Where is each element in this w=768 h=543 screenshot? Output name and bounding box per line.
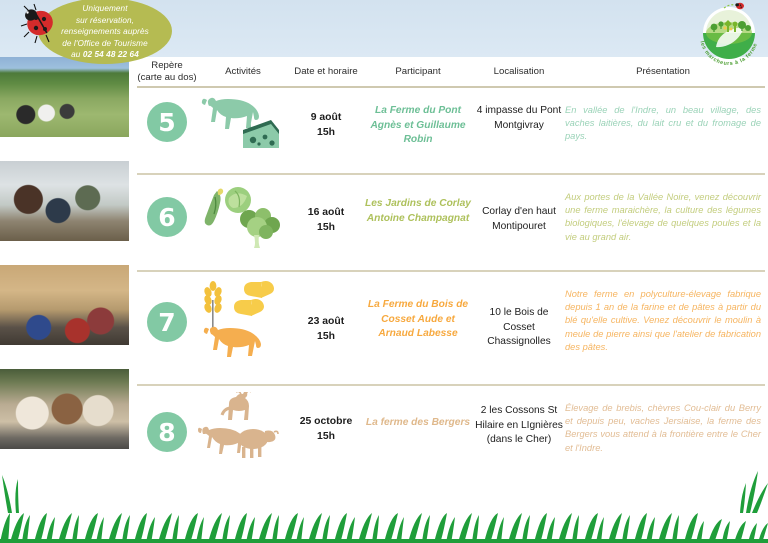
activites-cell: [197, 175, 289, 270]
date-cell: 9 août 15h: [289, 88, 363, 140]
wheat-icon: [201, 280, 225, 330]
cow-icon: [203, 324, 265, 364]
presentation-cell: Notre ferme en polyculture-élevage fabri…: [565, 272, 765, 354]
table-row[interactable]: 6: [137, 175, 765, 270]
pasta-icon: [225, 278, 277, 326]
grass-band-decoration: [0, 507, 768, 543]
date-value: 25 octobre: [289, 414, 363, 429]
repere-cell: 7: [137, 272, 197, 342]
grass-right-decoration: [732, 443, 768, 513]
time-value: 15h: [289, 429, 363, 444]
photo-farm-kitchen-visit: [0, 265, 129, 345]
sheep-icon: [233, 426, 279, 460]
goat-icon: [219, 392, 259, 426]
date-cell: 16 août 15h: [289, 175, 363, 235]
repere-badge-6: 6: [147, 197, 187, 237]
activites-cell: [197, 88, 289, 173]
photo-strip: [0, 57, 129, 449]
repere-badge-5: 5: [147, 102, 187, 142]
participant-cell: La Ferme du Pont Agnès et Guillaume Robi…: [363, 88, 473, 148]
header-presentation: Présentation: [565, 66, 761, 77]
participant-cell: La Ferme du Bois de Cosset Aude et Arnau…: [363, 272, 473, 342]
photo-cows-in-field: [0, 57, 129, 137]
activites-cell: [197, 386, 289, 478]
badge-line-3: renseignements auprès: [61, 26, 149, 37]
repere-cell: 5: [137, 88, 197, 142]
badge-line-4: de l'Office de Tourisme: [62, 38, 147, 49]
date-cell: 23 août 15h: [289, 272, 363, 344]
repere-badge-7: 7: [147, 302, 187, 342]
table-header-row: Repère (carte au dos) Activités Date et …: [137, 57, 765, 86]
badge-phone-prefix: au: [71, 50, 83, 59]
grass-left-decoration: [0, 453, 26, 513]
localisation-cell: 10 le Bois de Cosset Chassignolles: [473, 272, 565, 350]
photo-children-greenhouse: [0, 161, 129, 241]
time-value: 15h: [289, 220, 363, 235]
table-row[interactable]: 8: [137, 386, 765, 478]
program-table: Repère (carte au dos) Activités Date et …: [137, 57, 765, 478]
presentation-cell: Aux portes de la Vallée Noire, venez déc…: [565, 175, 765, 244]
photo-goat-herd: [0, 369, 129, 449]
localisation-cell: 2 les Cossons St Hilaire en LIgnières (d…: [473, 386, 565, 448]
repere-badge-8: 8: [147, 412, 187, 452]
participant-cell: La ferme des Bergers: [363, 386, 473, 431]
badge-line-1: Uniquement: [82, 3, 127, 14]
cheese-icon: [241, 118, 281, 150]
activites-cell: [197, 272, 289, 384]
table-row[interactable]: 7: [137, 272, 765, 384]
header-activites: Activités: [197, 66, 289, 77]
badge-line-2: sur réservation,: [76, 15, 134, 26]
participant-cell: Les Jardins de Corlay Antoine Champagnat: [363, 175, 473, 226]
date-value: 9 août: [289, 110, 363, 125]
les-marcheurs-a-la-ferme-logo: les marcheurs à la ferme: [694, 0, 764, 66]
badge-phone-line: au 02 54 48 22 64: [71, 49, 139, 60]
date-value: 23 août: [289, 314, 363, 329]
repere-cell: 6: [137, 175, 197, 237]
repere-cell: 8: [137, 386, 197, 452]
badge-phone-number: 02 54 48 22 64: [83, 50, 139, 59]
broccoli-icon: [235, 205, 283, 249]
header-localisation: Localisation: [473, 66, 565, 77]
date-cell: 25 octobre 15h: [289, 386, 363, 444]
ladybug-icon: [20, 2, 66, 48]
reservation-badge: Uniquement sur réservation, renseignemen…: [14, 0, 174, 66]
date-value: 16 août: [289, 205, 363, 220]
localisation-cell: Corlay d'en haut Montipouret: [473, 175, 565, 234]
time-value: 15h: [289, 329, 363, 344]
header-date: Date et horaire: [289, 66, 363, 77]
table-row[interactable]: 5 9 août 15h: [137, 88, 765, 173]
header-participant: Participant: [363, 66, 473, 77]
presentation-cell: En vallée de l'Indre, un beau village, d…: [565, 88, 765, 144]
localisation-cell: 4 impasse du Pont Montgivray: [473, 88, 565, 133]
time-value: 15h: [289, 125, 363, 140]
